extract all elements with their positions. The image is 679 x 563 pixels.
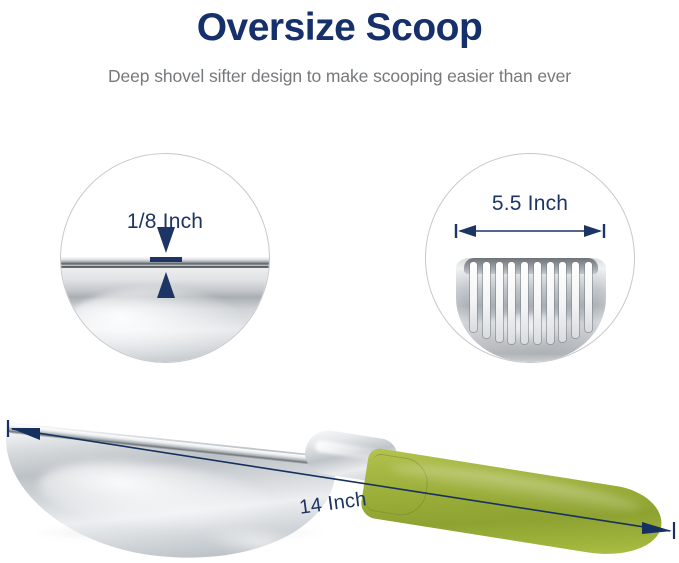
arrow-right-icon bbox=[584, 225, 602, 237]
page-subtitle: Deep shovel sifter design to make scoopi… bbox=[0, 66, 679, 87]
triangle-up-icon bbox=[157, 272, 175, 298]
sifter-slots bbox=[470, 262, 592, 344]
callout-width: 5.5 Inch bbox=[425, 153, 635, 363]
header: Oversize Scoop Deep shovel sifter design… bbox=[0, 0, 679, 87]
sifter-slot bbox=[547, 262, 554, 344]
scoop-front-view-image bbox=[456, 258, 606, 363]
sifter-slot bbox=[521, 262, 528, 344]
scoop-edge-rim-line bbox=[60, 266, 270, 268]
sifter-slot bbox=[470, 262, 477, 332]
thickness-tick-marker bbox=[150, 257, 182, 262]
sifter-slot bbox=[534, 262, 541, 344]
triangle-down-icon bbox=[157, 227, 175, 253]
sifter-slot bbox=[508, 262, 515, 344]
sifter-slot bbox=[585, 262, 592, 332]
callout-width-label: 5.5 Inch bbox=[426, 192, 634, 216]
width-dimension-arrow bbox=[454, 223, 606, 239]
page-title: Oversize Scoop bbox=[0, 6, 679, 50]
sifter-slot bbox=[483, 262, 490, 338]
callout-thickness: 1/8 Inch bbox=[60, 153, 270, 363]
arrow-left-icon bbox=[458, 225, 476, 237]
infographic-page: Oversize Scoop Deep shovel sifter design… bbox=[0, 0, 679, 563]
sifter-slot bbox=[559, 262, 566, 342]
sifter-slot bbox=[496, 262, 503, 342]
product-photo bbox=[0, 396, 679, 563]
scoop-handle bbox=[359, 447, 666, 563]
sifter-slot bbox=[572, 262, 579, 338]
